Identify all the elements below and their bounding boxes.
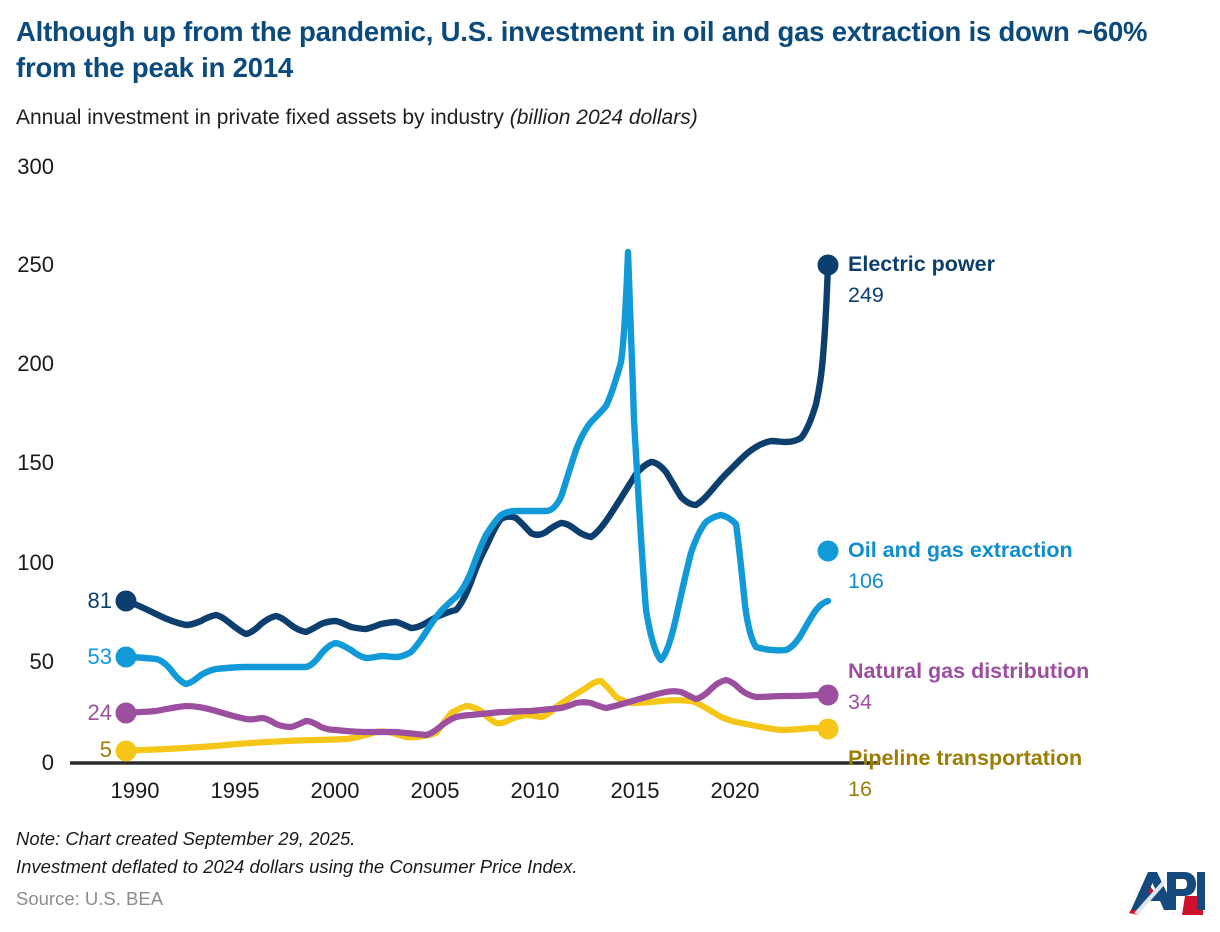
- y-tick-300: 300: [0, 154, 54, 180]
- note-line-1: Note: Chart created September 29, 2025.: [16, 828, 355, 850]
- y-tick-100: 100: [0, 550, 54, 576]
- series-value-pipeline-transportation: 16: [848, 778, 1082, 802]
- series-value-oil-and-gas-extraction: 106: [848, 570, 1073, 594]
- y-tick-250: 250: [0, 252, 54, 278]
- series-value-natural-gas-distribution: 34: [848, 691, 1089, 715]
- end-dot-oil-and-gas-extraction: [818, 541, 839, 562]
- subtitle-units: (billion 2024 dollars): [510, 106, 698, 129]
- series-label-oil-and-gas-extraction: Oil and gas extraction 106: [848, 539, 1073, 593]
- end-dot-natural-gas-distribution: [818, 685, 839, 706]
- x-tick-2000: 2000: [295, 778, 375, 804]
- subtitle-main: Annual investment in private fixed asset…: [16, 106, 510, 129]
- series-label-natural-gas-distribution: Natural gas distribution 34: [848, 660, 1089, 714]
- series-name-oil-and-gas-extraction: Oil and gas extraction: [848, 539, 1073, 563]
- start-label-pipeline-transportation: 5: [52, 737, 112, 763]
- chart-page: Although up from the pandemic, U.S. inve…: [0, 0, 1220, 932]
- chart-subtitle: Annual investment in private fixed asset…: [16, 105, 1196, 131]
- start-label-electric-power: 81: [52, 588, 112, 614]
- line-natural-gas-distribution: [126, 680, 828, 735]
- y-tick-0: 0: [0, 750, 54, 776]
- start-label-natural-gas-distribution: 24: [52, 700, 112, 726]
- line-oil-and-gas-extraction: [126, 252, 828, 684]
- y-tick-200: 200: [0, 351, 54, 377]
- start-dot-natural-gas-distribution: [116, 703, 137, 724]
- page-title: Although up from the pandemic, U.S. inve…: [16, 14, 1196, 87]
- series-name-electric-power: Electric power: [848, 253, 995, 277]
- y-tick-150: 150: [0, 450, 54, 476]
- end-dot-electric-power: [818, 255, 839, 276]
- y-tick-50: 50: [0, 649, 54, 675]
- x-tick-1995: 1995: [195, 778, 275, 804]
- line-electric-power: [126, 265, 828, 634]
- series-label-pipeline-transportation: Pipeline transportation 16: [848, 747, 1082, 801]
- x-tick-2020: 2020: [695, 778, 775, 804]
- series-value-electric-power: 249: [848, 284, 995, 308]
- end-dot-pipeline-transportation: [818, 719, 839, 740]
- series-label-electric-power: Electric power 249: [848, 253, 995, 307]
- source-line: Source: U.S. BEA: [16, 888, 163, 910]
- start-label-oil-and-gas-extraction: 53: [52, 644, 112, 670]
- series-name-natural-gas-distribution: Natural gas distribution: [848, 660, 1089, 684]
- start-dot-pipeline-transportation: [116, 741, 137, 762]
- note-line-2: Investment deflated to 2024 dollars usin…: [16, 856, 578, 878]
- series-name-pipeline-transportation: Pipeline transportation: [848, 747, 1082, 771]
- logo-letter-i: [1197, 872, 1205, 910]
- x-tick-1990: 1990: [95, 778, 175, 804]
- x-tick-2015: 2015: [595, 778, 675, 804]
- x-tick-2010: 2010: [495, 778, 575, 804]
- x-tick-2005: 2005: [395, 778, 475, 804]
- start-dot-oil-and-gas-extraction: [116, 647, 137, 668]
- start-dot-electric-power: [116, 591, 137, 612]
- line-pipeline-transportation: [126, 681, 828, 751]
- api-logo: [1128, 866, 1206, 918]
